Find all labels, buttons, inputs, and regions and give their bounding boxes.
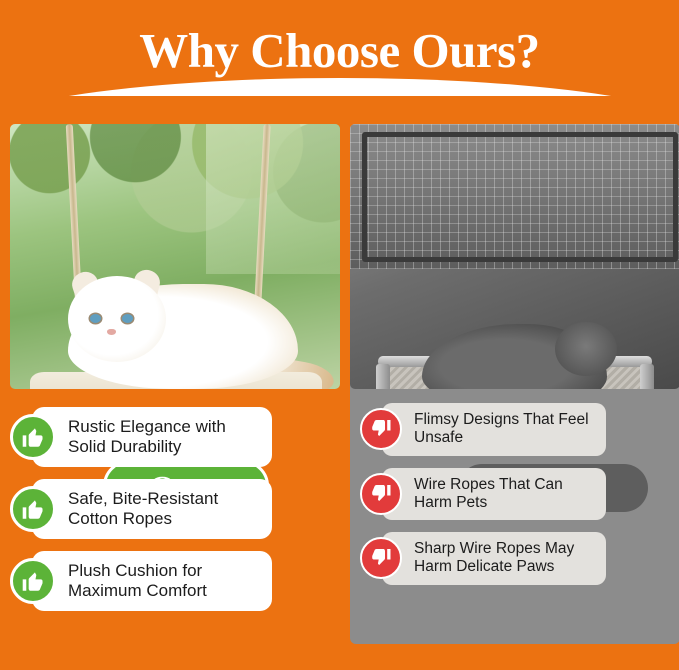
thumbs-up-icon xyxy=(10,414,56,460)
feature-text: Flimsy Designs That Feel Unsafe xyxy=(414,411,596,448)
feature-text: Sharp Wire Ropes May Harm Delicate Paws xyxy=(414,540,596,577)
others-column: Others xyxy=(350,124,679,389)
thumbs-up-icon xyxy=(10,486,56,532)
feature-text: Rustic Elegance with Solid Durability xyxy=(68,417,260,457)
support-post-left xyxy=(376,364,390,389)
feature-text: Plush Cushion for Maximum Comfort xyxy=(68,561,260,601)
feature-card: Rustic Elegance with Solid Durability xyxy=(32,407,272,467)
thumbs-down-icon xyxy=(360,537,402,579)
cat-head xyxy=(555,322,617,376)
feature-card: Sharp Wire Ropes May Harm Delicate Paws xyxy=(382,532,606,585)
list-item: Safe, Bite-Resistant Cotton Ropes xyxy=(10,479,340,539)
thumbs-down-icon xyxy=(360,408,402,450)
list-item: Flimsy Designs That Feel Unsafe xyxy=(360,403,679,456)
cat-head xyxy=(68,276,166,362)
window-frame-decor xyxy=(362,132,678,262)
list-item: Plush Cushion for Maximum Comfort xyxy=(10,551,340,611)
support-post-right xyxy=(640,364,654,389)
list-item: Rustic Elegance with Solid Durability xyxy=(10,407,340,467)
thumbs-up-icon xyxy=(10,558,56,604)
feature-text: Wire Ropes That Can Harm Pets xyxy=(414,476,596,513)
feature-card: Wire Ropes That Can Harm Pets xyxy=(382,468,606,521)
list-item: Sharp Wire Ropes May Harm Delicate Paws xyxy=(360,532,679,585)
thumbs-down-icon xyxy=(360,473,402,515)
ours-feature-list: Rustic Elegance with Solid Durability Sa… xyxy=(10,407,340,623)
cat-eye-right xyxy=(122,314,133,323)
feature-card: Plush Cushion for Maximum Comfort xyxy=(32,551,272,611)
ours-column: Ours xyxy=(10,124,340,389)
window-decor xyxy=(206,124,340,274)
feature-card: Safe, Bite-Resistant Cotton Ropes xyxy=(32,479,272,539)
others-feature-list: Flimsy Designs That Feel Unsafe Wire Rop… xyxy=(360,403,679,597)
feature-text: Safe, Bite-Resistant Cotton Ropes xyxy=(68,489,260,529)
cat-eye-left xyxy=(90,314,101,323)
page-title: Why Choose Ours? xyxy=(0,22,679,79)
cat-nose xyxy=(107,329,116,335)
header-banner: Why Choose Ours? xyxy=(0,0,679,100)
list-item: Wire Ropes That Can Harm Pets xyxy=(360,468,679,521)
ours-photo xyxy=(10,124,340,389)
others-photo xyxy=(350,124,679,389)
feature-card: Flimsy Designs That Feel Unsafe xyxy=(382,403,606,456)
